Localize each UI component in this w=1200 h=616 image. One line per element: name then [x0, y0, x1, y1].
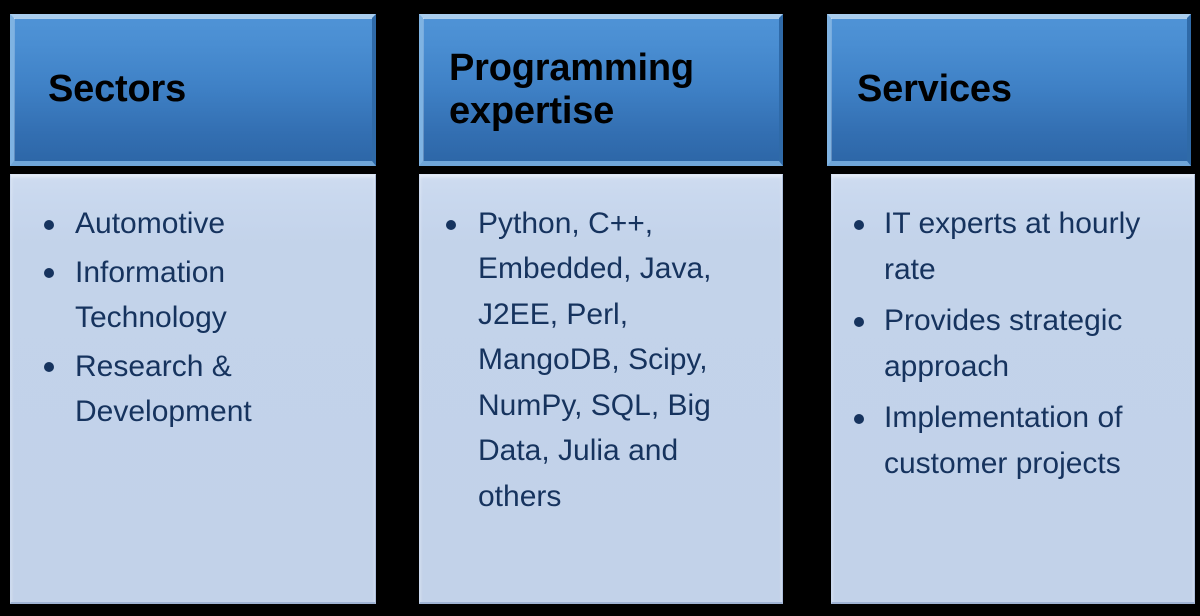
- column-services: Services IT experts at hourly rate Provi…: [827, 0, 1191, 616]
- list-item-label: Automotive: [75, 201, 361, 247]
- list-item: Information Technology: [11, 250, 361, 341]
- list-item: Automotive: [11, 201, 361, 247]
- list-item-label: Information Technology: [75, 250, 361, 341]
- list-item: Implementation of customer projects: [832, 395, 1180, 486]
- column-header-sectors[interactable]: Sectors: [10, 14, 376, 166]
- column-body-services: IT experts at hourly rate Provides strat…: [831, 174, 1195, 604]
- bullet-list-programming-expertise: Python, C++, Embedded, Java, J2EE, Perl,…: [420, 201, 768, 519]
- bullet-dot-icon: [44, 362, 54, 372]
- bullet-dot-icon: [44, 220, 54, 230]
- bullet-dot-icon: [854, 317, 864, 327]
- list-item-label: Python, C++, Embedded, Java, J2EE, Perl,…: [478, 201, 740, 519]
- column-header-title: Services: [831, 68, 1024, 111]
- column-header-programming-expertise[interactable]: Programming expertise: [419, 14, 783, 166]
- column-sectors: Sectors Automotive Information Technolog…: [10, 0, 376, 616]
- bullet-list-services: IT experts at hourly rate Provides strat…: [832, 201, 1180, 487]
- column-programming-expertise: Programming expertise Python, C++, Embed…: [419, 0, 783, 616]
- diagram-canvas: Sectors Automotive Information Technolog…: [0, 0, 1200, 616]
- column-header-title: Sectors: [14, 68, 198, 111]
- list-item: Python, C++, Embedded, Java, J2EE, Perl,…: [420, 201, 768, 519]
- column-header-services[interactable]: Services: [827, 14, 1191, 166]
- bullet-dot-icon: [854, 220, 864, 230]
- bullet-dot-icon: [854, 414, 864, 424]
- bullet-dot-icon: [44, 268, 54, 278]
- list-item: IT experts at hourly rate: [832, 201, 1180, 292]
- list-item-label: Implementation of customer projects: [884, 395, 1164, 486]
- bullet-dot-icon: [446, 220, 456, 230]
- column-body-programming-expertise: Python, C++, Embedded, Java, J2EE, Perl,…: [419, 174, 783, 604]
- column-header-title: Programming expertise: [423, 47, 706, 132]
- list-item-label: Provides strategic approach: [884, 298, 1172, 389]
- list-item: Provides strategic approach: [832, 298, 1180, 389]
- list-item-label: Research & Development: [75, 344, 361, 435]
- bullet-list-sectors: Automotive Information Technology Resear…: [11, 201, 361, 435]
- column-body-sectors: Automotive Information Technology Resear…: [10, 174, 376, 604]
- list-item: Research & Development: [11, 344, 361, 435]
- list-item-label: IT experts at hourly rate: [884, 201, 1164, 292]
